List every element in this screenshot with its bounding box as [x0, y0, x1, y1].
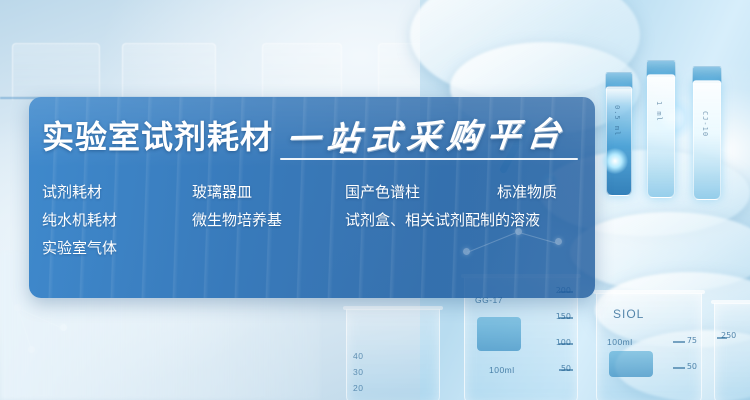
- category-item-reference-material[interactable]: 标准物质: [497, 183, 557, 203]
- page-title: 实验室试剂耗材: [42, 121, 273, 153]
- category-item-water-purifier-consumables[interactable]: 纯水机耗材: [42, 211, 117, 231]
- category-item-reagent-kits-solutions[interactable]: 试剂盒、相关试剂配制的溶液: [345, 211, 540, 231]
- category-row: 试剂耗材 玻璃器皿 国产色谱柱 标准物质: [42, 183, 582, 211]
- category-item-reagent-consumables[interactable]: 试剂耗材: [42, 183, 102, 203]
- title-underline: [280, 158, 578, 160]
- banner-title: 实验室试剂耗材 一站式采购平台: [42, 120, 567, 153]
- beaker-liquid: [609, 351, 653, 377]
- light-glint: [602, 148, 628, 174]
- category-row: 纯水机耗材 微生物培养基 试剂盒、相关试剂配制的溶液: [42, 211, 582, 239]
- beaker-icon: 250: [714, 303, 750, 400]
- promo-panel: 实验室试剂耗材 一站式采购平台 试剂耗材 玻璃器皿 国产色谱柱 标准物质 纯水机…: [29, 97, 595, 298]
- category-item-glassware[interactable]: 玻璃器皿: [192, 183, 252, 203]
- beaker-lip: [343, 306, 443, 310]
- category-item-domestic-chromatography-column[interactable]: 国产色谱柱: [345, 183, 420, 203]
- beaker-lip: [711, 300, 750, 304]
- vial-icon: 1 ml: [647, 74, 675, 198]
- beaker-liquid: [477, 317, 521, 351]
- category-item-microbial-culture-media[interactable]: 微生物培养基: [192, 211, 282, 231]
- beaker-icon: 40 30 20: [346, 309, 440, 400]
- category-row: 实验室气体: [42, 239, 582, 267]
- title-calligraphy: 一站式采购平台: [285, 117, 569, 156]
- vial-icon: CJ-10: [693, 80, 721, 200]
- banner-stage: 0.5 ml 1 ml CJ-10 200 150 10: [0, 0, 750, 400]
- vial-icon: 0.5 ml: [606, 86, 632, 196]
- category-item-laboratory-gases[interactable]: 实验室气体: [42, 239, 117, 259]
- beaker-icon: SIOL 100ml 75 50: [596, 293, 702, 400]
- category-list: 试剂耗材 玻璃器皿 国产色谱柱 标准物质 纯水机耗材 微生物培养基 试剂盒、相关…: [42, 183, 582, 267]
- beaker-lip: [593, 290, 705, 294]
